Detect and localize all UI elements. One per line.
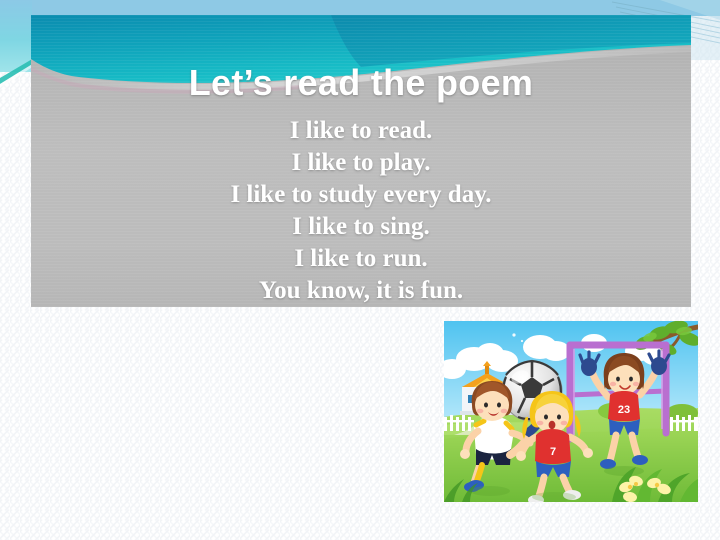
poem-line: I like to read.	[31, 115, 691, 147]
content-panel: Let’s read the poem I like to read. I li…	[31, 15, 691, 307]
poem-line: I like to sing.	[31, 211, 691, 243]
poem-line: You know, it is fun.	[31, 275, 691, 307]
soccer-kids-illustration: 23	[444, 321, 698, 502]
poem-line: I like to play.	[31, 147, 691, 179]
page-title: Let’s read the poem	[31, 63, 691, 103]
soccer-kids-image: 23	[444, 321, 698, 502]
poem-block: I like to read. I like to play. I like t…	[31, 115, 691, 307]
slide-canvas: Let’s read the poem I like to read. I li…	[0, 0, 720, 540]
poem-line: I like to run.	[31, 243, 691, 275]
poem-line: I like to study every day.	[31, 179, 691, 211]
jersey-number-23: 23	[618, 404, 630, 416]
jersey-number-7: 7	[550, 446, 556, 458]
